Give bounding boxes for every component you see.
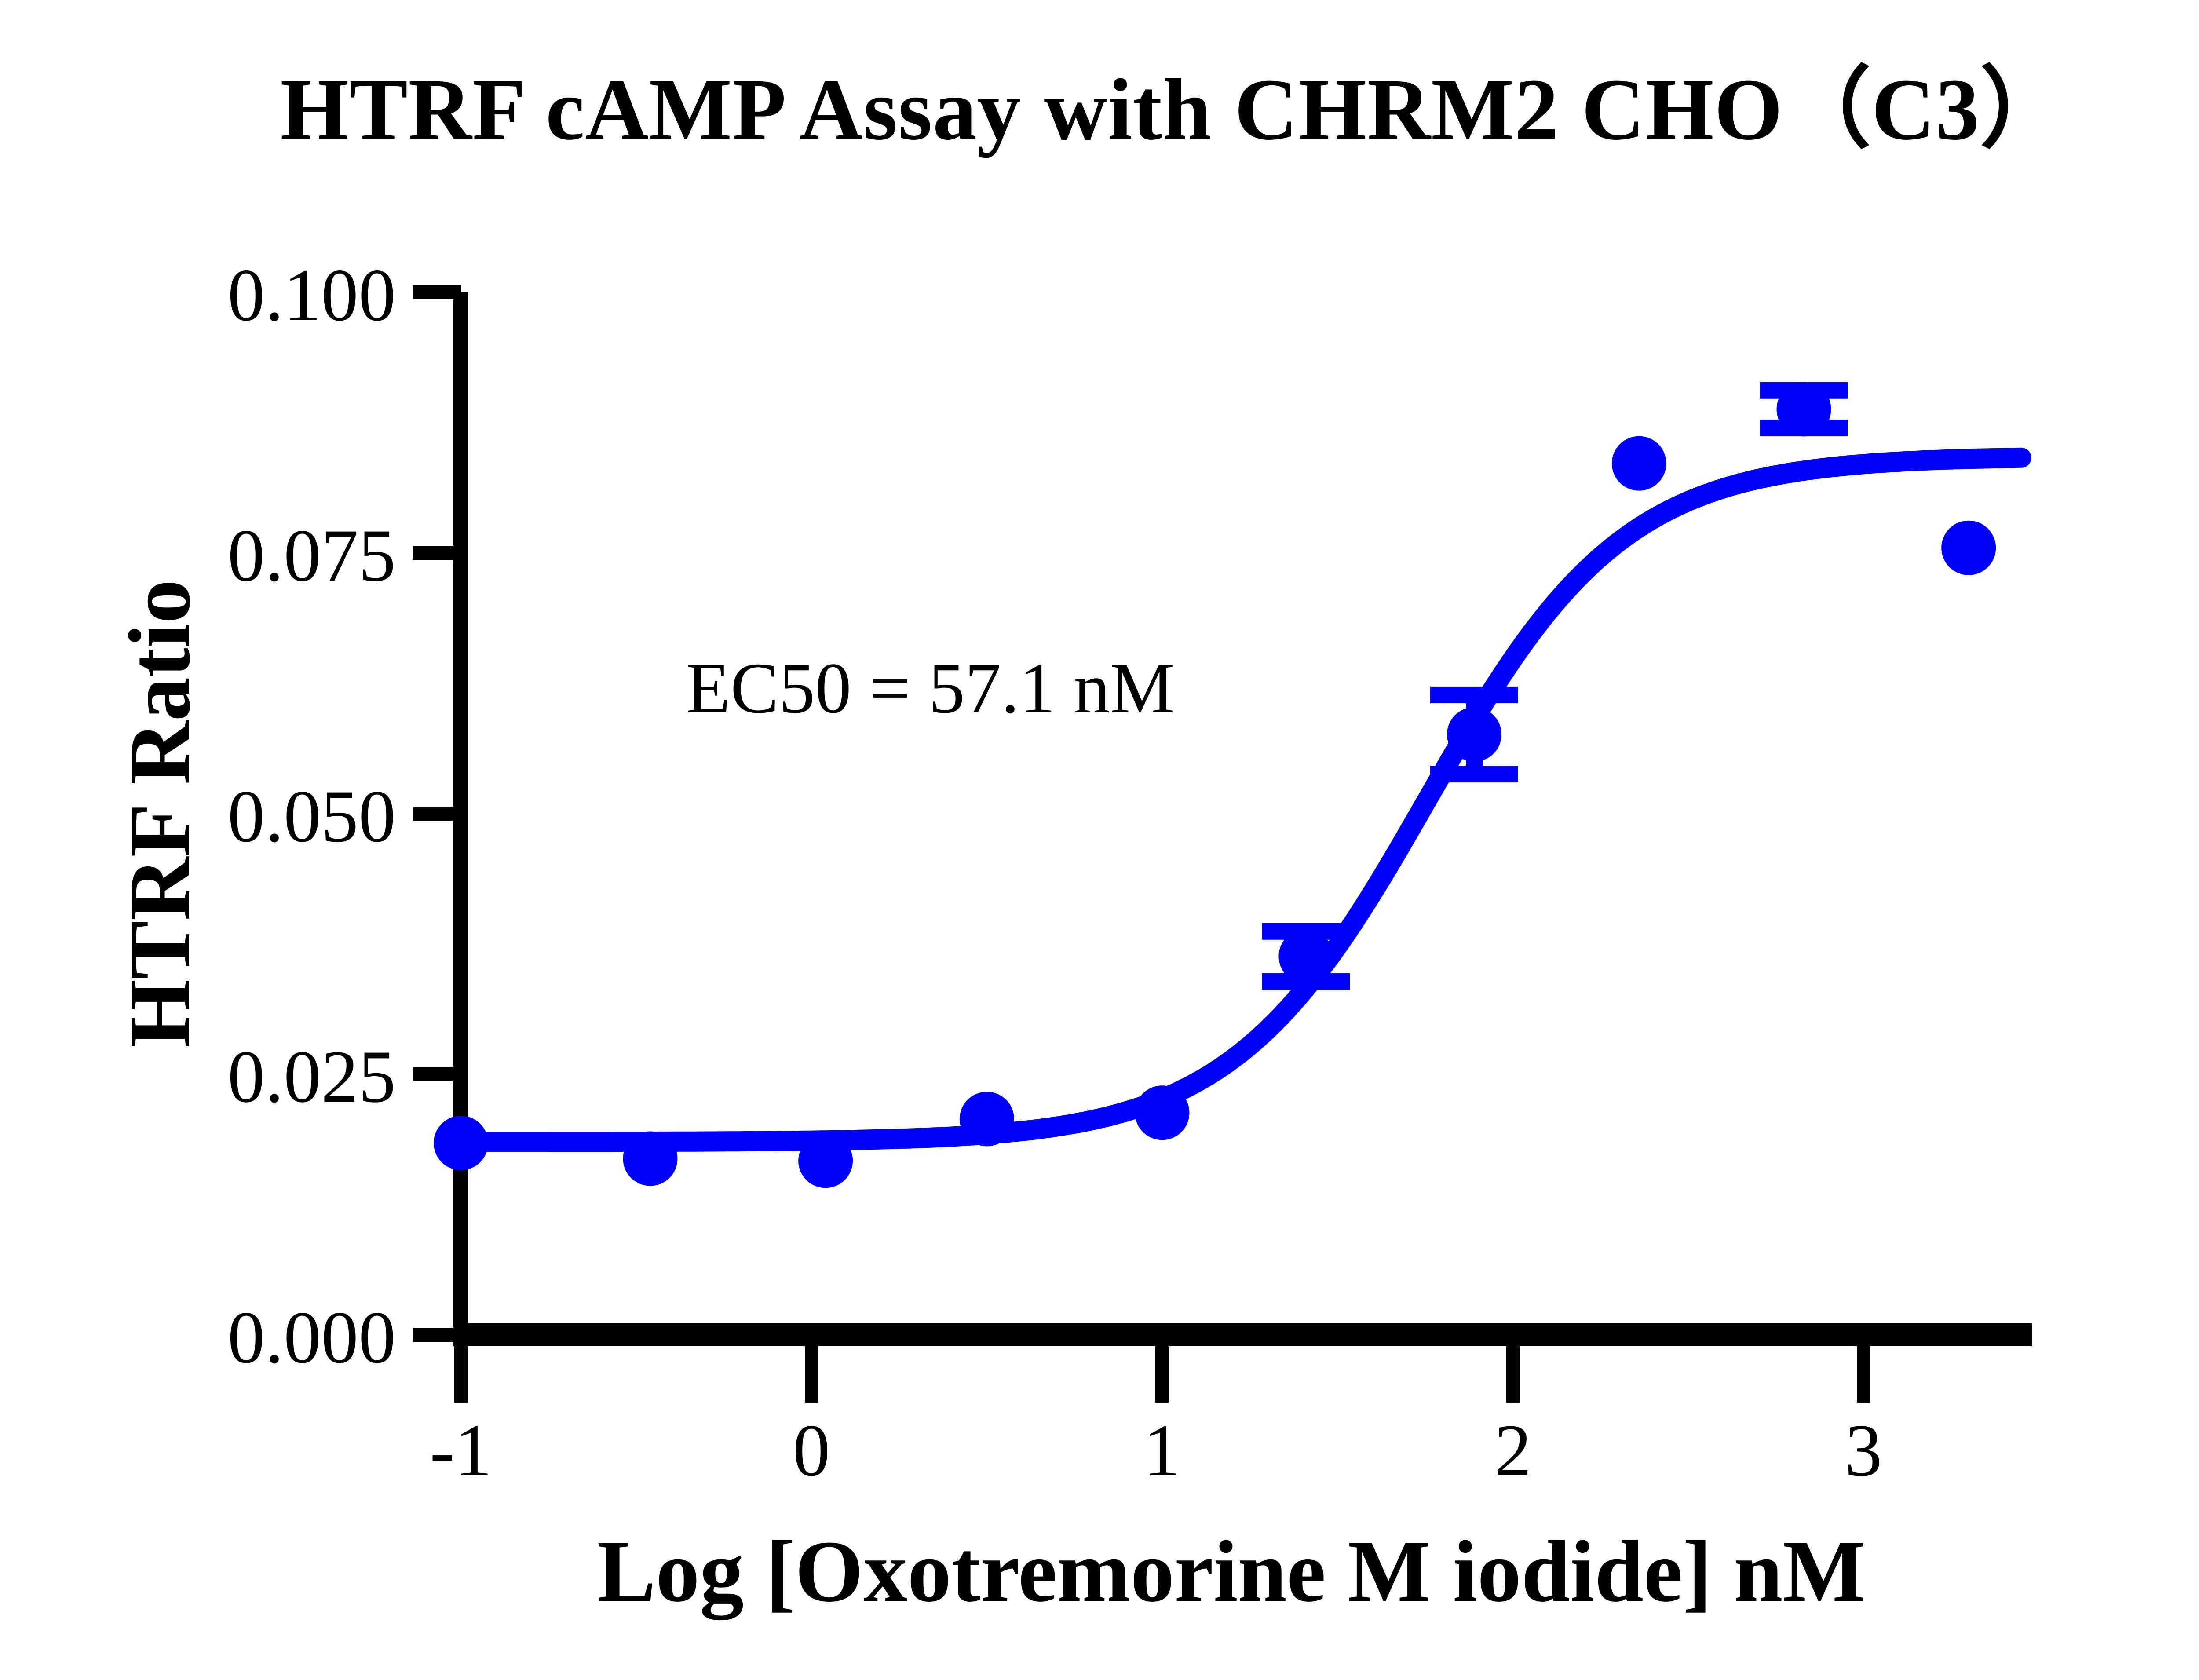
data-point-marker (1612, 436, 1666, 491)
data-point-marker (960, 1092, 1014, 1146)
x-tick-label-1: 1 (1143, 1409, 1181, 1492)
y-tick-label-0050: 0.050 (228, 775, 396, 858)
data-point-marker (1777, 382, 1831, 436)
x-tick-label-0: 0 (793, 1409, 830, 1492)
y-tick-label-0100: 0.100 (228, 254, 396, 336)
y-tick-label-0075: 0.075 (228, 514, 396, 597)
y-tick-label-0000: 0.000 (228, 1296, 396, 1379)
data-point-marker (623, 1132, 678, 1186)
chart-canvas: HTRF cAMP Assay with CHRM2 CHO（C3） 0.100… (0, 0, 2199, 1680)
y-tick-label-0025: 0.025 (228, 1035, 396, 1118)
data-point-marker (1278, 929, 1333, 984)
data-point-marker (1941, 521, 1996, 575)
x-axis-ticks (461, 1346, 1863, 1403)
fit-curve-line (461, 458, 2021, 1142)
x-tick-label-neg1: -1 (430, 1409, 492, 1492)
data-point-marker (798, 1133, 853, 1188)
data-point-marker (434, 1116, 488, 1170)
x-tick-label-3: 3 (1845, 1409, 1882, 1492)
y-axis-title: HTRF Ratio (111, 580, 208, 1048)
x-tick-label-2: 2 (1494, 1409, 1532, 1492)
ec50-annotation: EC50 = 57.1 nM (686, 648, 1175, 728)
data-point-marker (1447, 707, 1501, 762)
dose-response-plot: 0.100 0.075 0.050 0.025 0.000 -1 0 1 2 3… (0, 0, 2199, 1680)
data-point-marker (1135, 1085, 1190, 1140)
x-axis-title: Log [Oxotremorine M iodide] nM (597, 1523, 1866, 1620)
